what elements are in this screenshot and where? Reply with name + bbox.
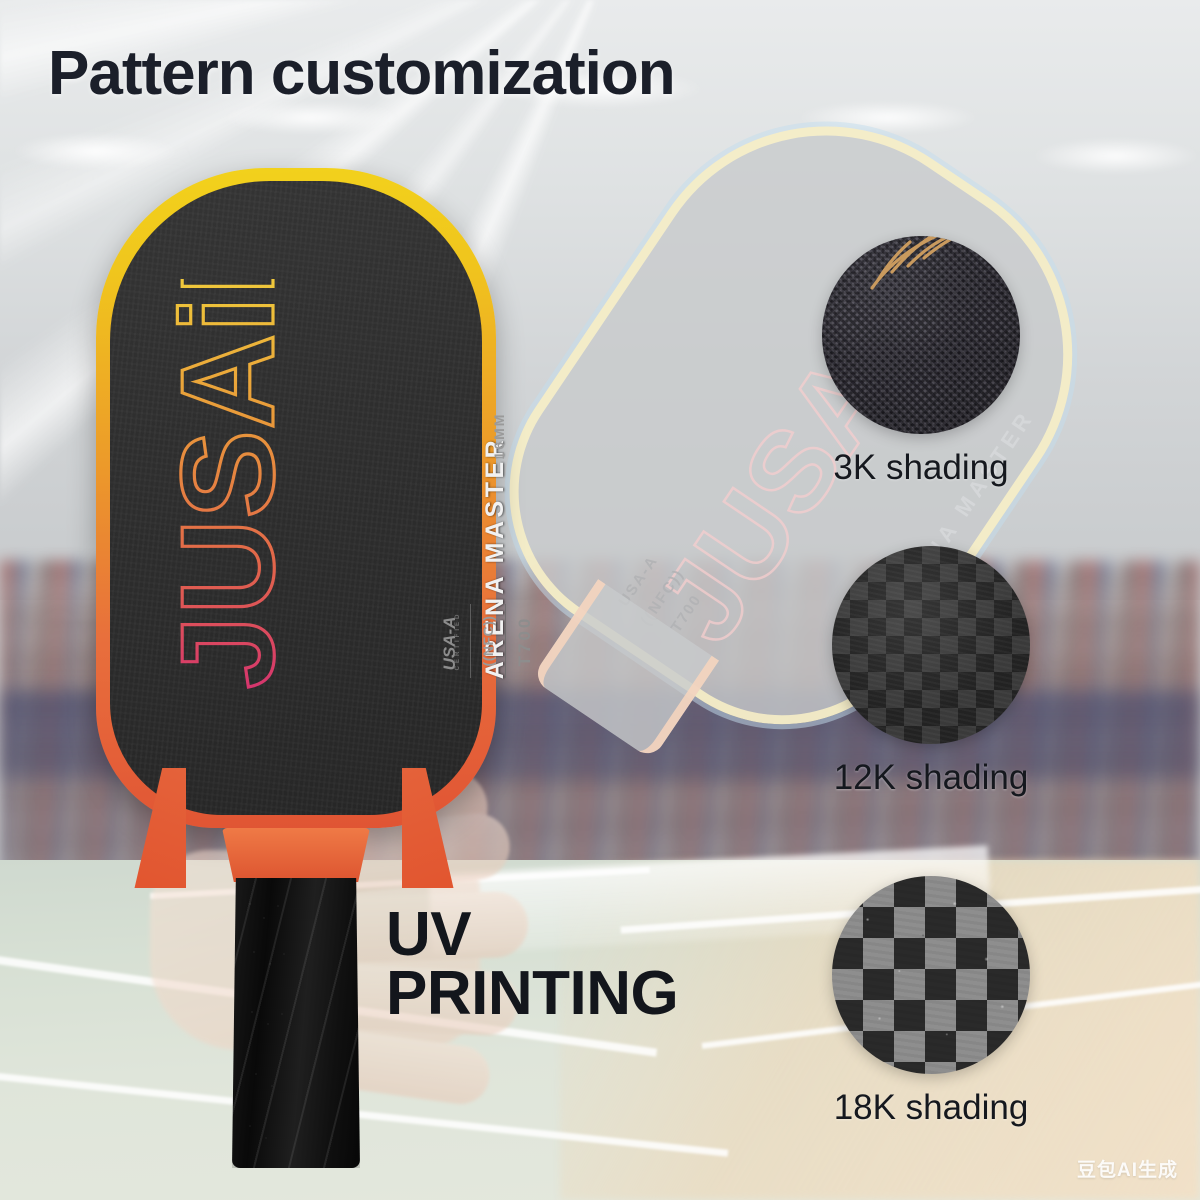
gold-leaf-accent: [858, 236, 978, 292]
badge-divider: [470, 604, 471, 678]
paddle-thickness-label: 16MM: [491, 381, 515, 491]
swatch-18k-label: 18K shading: [806, 1088, 1056, 1128]
product-marketing-image: JUSAiN ARENA MASTER USA-A ((NFC)) T700 P…: [0, 0, 1200, 1200]
swatch-3k-label: 3K shading: [796, 448, 1046, 488]
page-title: Pattern customization: [48, 38, 675, 109]
swatch-18k[interactable]: 18K shading: [832, 876, 1056, 1128]
swatch-3k-texture: [822, 236, 1020, 434]
ai-watermark: 豆包AI生成: [1077, 1155, 1178, 1182]
uv-callout-line2: PRINTING: [386, 965, 678, 1024]
nfc-badge: ((NFC)): [480, 616, 496, 667]
paddle-collar: [222, 828, 370, 882]
swatch-12k-texture: [832, 546, 1030, 744]
material-badge: T700: [515, 616, 535, 667]
uv-printing-callout: UV PRINTING: [386, 906, 678, 1024]
grip-perforations: [244, 894, 294, 1156]
swatch-12k-label: 12K shading: [806, 758, 1056, 798]
badge-divider: [505, 604, 506, 678]
swatch-3k[interactable]: 3K shading: [822, 236, 1046, 488]
swatch-12k[interactable]: 12K shading: [832, 546, 1056, 798]
paddle-badge-stack: USA-A CERTIFIED ((NFC)) T700: [423, 541, 553, 741]
certification-sublabel: CERTIFIED: [455, 612, 461, 671]
swatch-18k-texture: [832, 876, 1030, 1074]
